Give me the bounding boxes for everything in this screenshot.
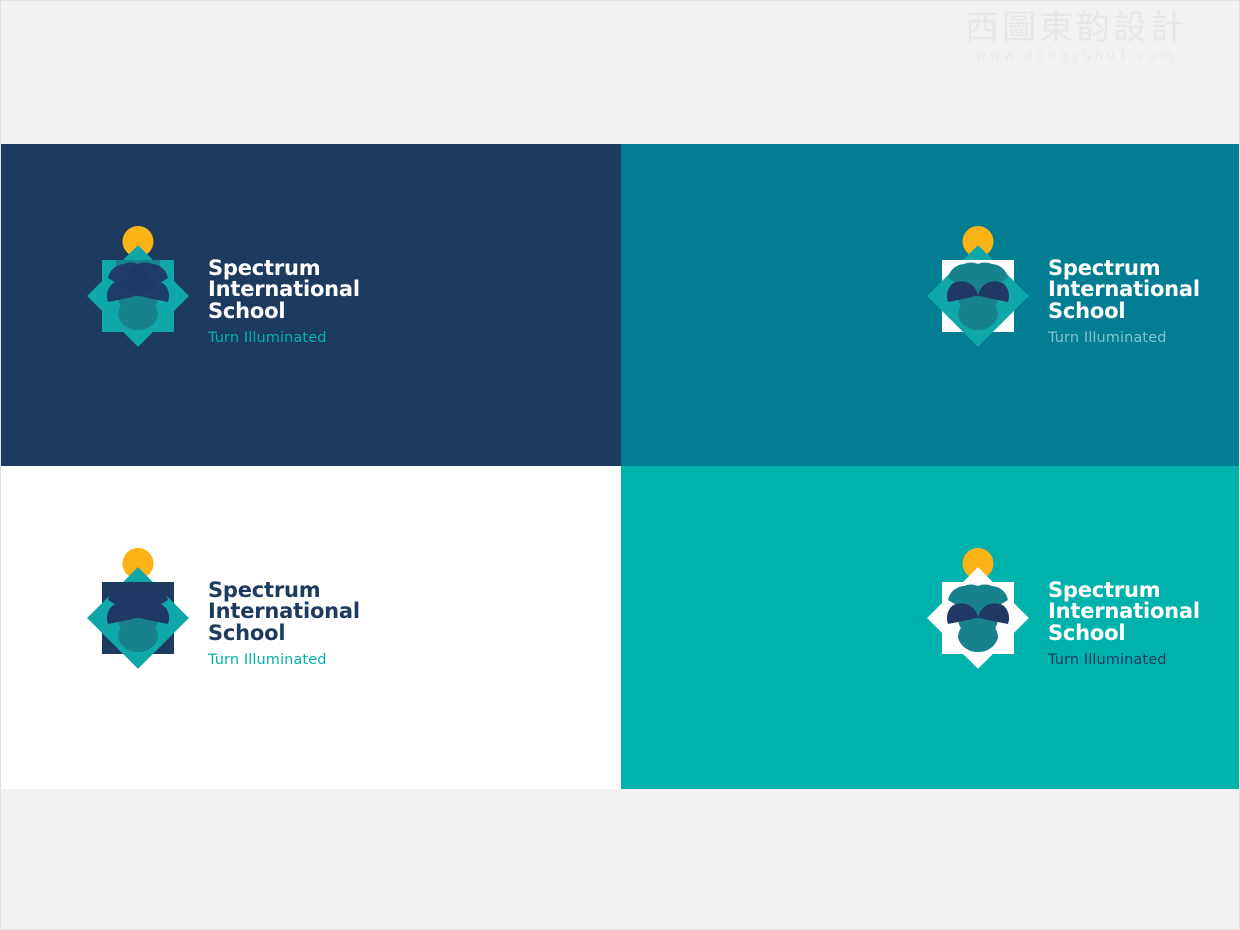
watermark: 西圖東韵設計 www.dongyun01.com (921, 9, 1231, 66)
logo-mark-svg (926, 224, 1030, 352)
logo-variant-grid: Spectrum International School Turn Illum… (1, 144, 1240, 789)
panel-teal-background: Spectrum International School Turn Illum… (621, 466, 1240, 789)
brand-name: Spectrum International School (208, 258, 360, 322)
wordmark: Spectrum International School Turn Illum… (1048, 224, 1200, 346)
logo-lockup-navy: Spectrum International School Turn Illum… (86, 224, 360, 352)
brand-tagline: Turn Illuminated (1048, 331, 1200, 346)
logo-lockup-teal: Spectrum International School Turn Illum… (926, 546, 1200, 674)
brand-name: Spectrum International School (208, 580, 360, 644)
logo-mark-svg (86, 224, 190, 352)
panel-deep-teal-background: Spectrum International School Turn Illum… (621, 144, 1240, 466)
panel-white-background: Spectrum International School Turn Illum… (1, 466, 621, 789)
logo-mark (86, 224, 190, 352)
wordmark: Spectrum International School Turn Illum… (208, 224, 360, 346)
watermark-url-text: www.dongyun01.com (921, 48, 1231, 66)
panel-navy-background: Spectrum International School Turn Illum… (1, 144, 621, 466)
presentation-board: 西圖東韵設計 www.dongyun01.com (0, 0, 1240, 930)
brand-name: Spectrum International School (1048, 258, 1200, 322)
logo-lockup-white: Spectrum International School Turn Illum… (86, 546, 360, 674)
brand-name: Spectrum International School (1048, 580, 1200, 644)
wordmark: Spectrum International School Turn Illum… (1048, 546, 1200, 668)
wordmark: Spectrum International School Turn Illum… (208, 546, 360, 668)
logo-lockup-deep-teal: Spectrum International School Turn Illum… (926, 224, 1200, 352)
brand-tagline: Turn Illuminated (208, 331, 360, 346)
logo-mark (926, 224, 1030, 352)
logo-mark-svg (926, 546, 1030, 674)
brand-tagline: Turn Illuminated (208, 653, 360, 668)
logo-mark (86, 546, 190, 674)
watermark-cjk-text: 西圖東韵設計 (921, 9, 1231, 48)
brand-tagline: Turn Illuminated (1048, 653, 1200, 668)
logo-mark-svg (86, 546, 190, 674)
logo-mark (926, 546, 1030, 674)
